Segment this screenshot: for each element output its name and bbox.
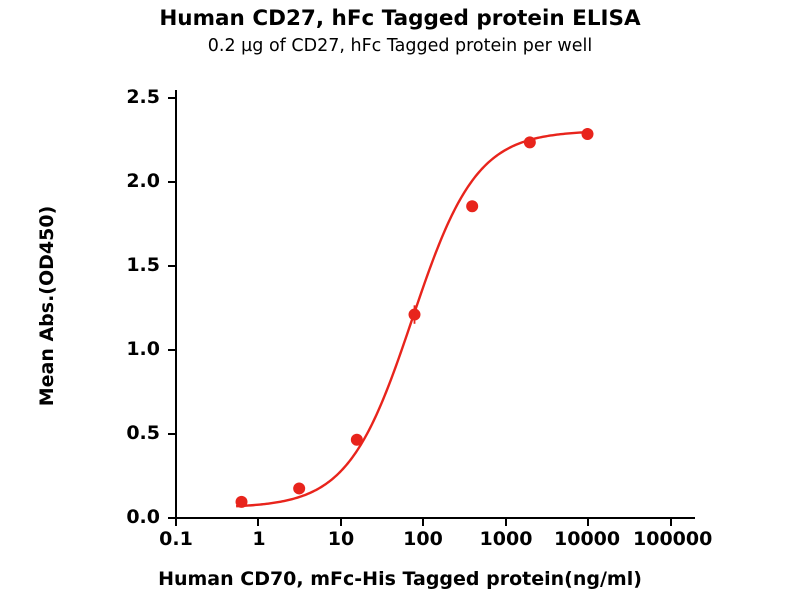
data-point bbox=[582, 128, 594, 140]
chart-title: Human CD27, hFc Tagged protein ELISA bbox=[0, 6, 800, 31]
x-tick-6 bbox=[670, 519, 672, 526]
y-tick-label-1: 0.5 bbox=[100, 422, 160, 444]
x-tick-label-1: 1 bbox=[238, 528, 280, 550]
data-point bbox=[351, 434, 363, 446]
x-tick-label-0: 0.1 bbox=[155, 528, 197, 550]
data-point bbox=[293, 482, 305, 494]
data-point bbox=[236, 496, 248, 508]
x-tick-label-4: 1000 bbox=[478, 528, 534, 550]
x-tick-label-5: 10000 bbox=[554, 528, 620, 550]
y-tick-5 bbox=[168, 97, 175, 99]
fit-curve bbox=[236, 132, 587, 506]
chart-figure: Human CD27, hFc Tagged protein ELISA 0.2… bbox=[0, 0, 800, 600]
y-tick-label-4: 2.0 bbox=[100, 170, 160, 192]
x-tick-0 bbox=[175, 519, 177, 526]
y-tick-label-0: 0.0 bbox=[100, 506, 160, 528]
y-tick-label-3: 1.5 bbox=[100, 254, 160, 276]
x-tick-label-3: 100 bbox=[402, 528, 444, 550]
x-tick-3 bbox=[422, 519, 424, 526]
x-tick-label-6: 100000 bbox=[633, 528, 707, 550]
x-axis-line bbox=[175, 517, 695, 519]
x-axis-label: Human CD70, mFc-His Tagged protein(ng/ml… bbox=[0, 568, 800, 590]
y-tick-0 bbox=[168, 517, 175, 519]
y-tick-2 bbox=[168, 349, 175, 351]
y-axis-line bbox=[175, 90, 177, 519]
x-tick-5 bbox=[587, 519, 589, 526]
x-tick-4 bbox=[505, 519, 507, 526]
data-point bbox=[466, 200, 478, 212]
y-tick-4 bbox=[168, 181, 175, 183]
x-tick-label-2: 10 bbox=[320, 528, 362, 550]
y-tick-label-2: 1.0 bbox=[100, 338, 160, 360]
y-tick-label-5: 2.5 bbox=[100, 86, 160, 108]
y-tick-3 bbox=[168, 265, 175, 267]
y-axis-label: Mean Abs.(OD450) bbox=[36, 156, 58, 456]
x-tick-1 bbox=[257, 519, 259, 526]
x-tick-2 bbox=[340, 519, 342, 526]
y-tick-1 bbox=[168, 433, 175, 435]
chart-subtitle: 0.2 µg of CD27, hFc Tagged protein per w… bbox=[0, 36, 800, 56]
data-point-group bbox=[236, 128, 594, 508]
data-point bbox=[409, 309, 421, 321]
data-point bbox=[524, 136, 536, 148]
